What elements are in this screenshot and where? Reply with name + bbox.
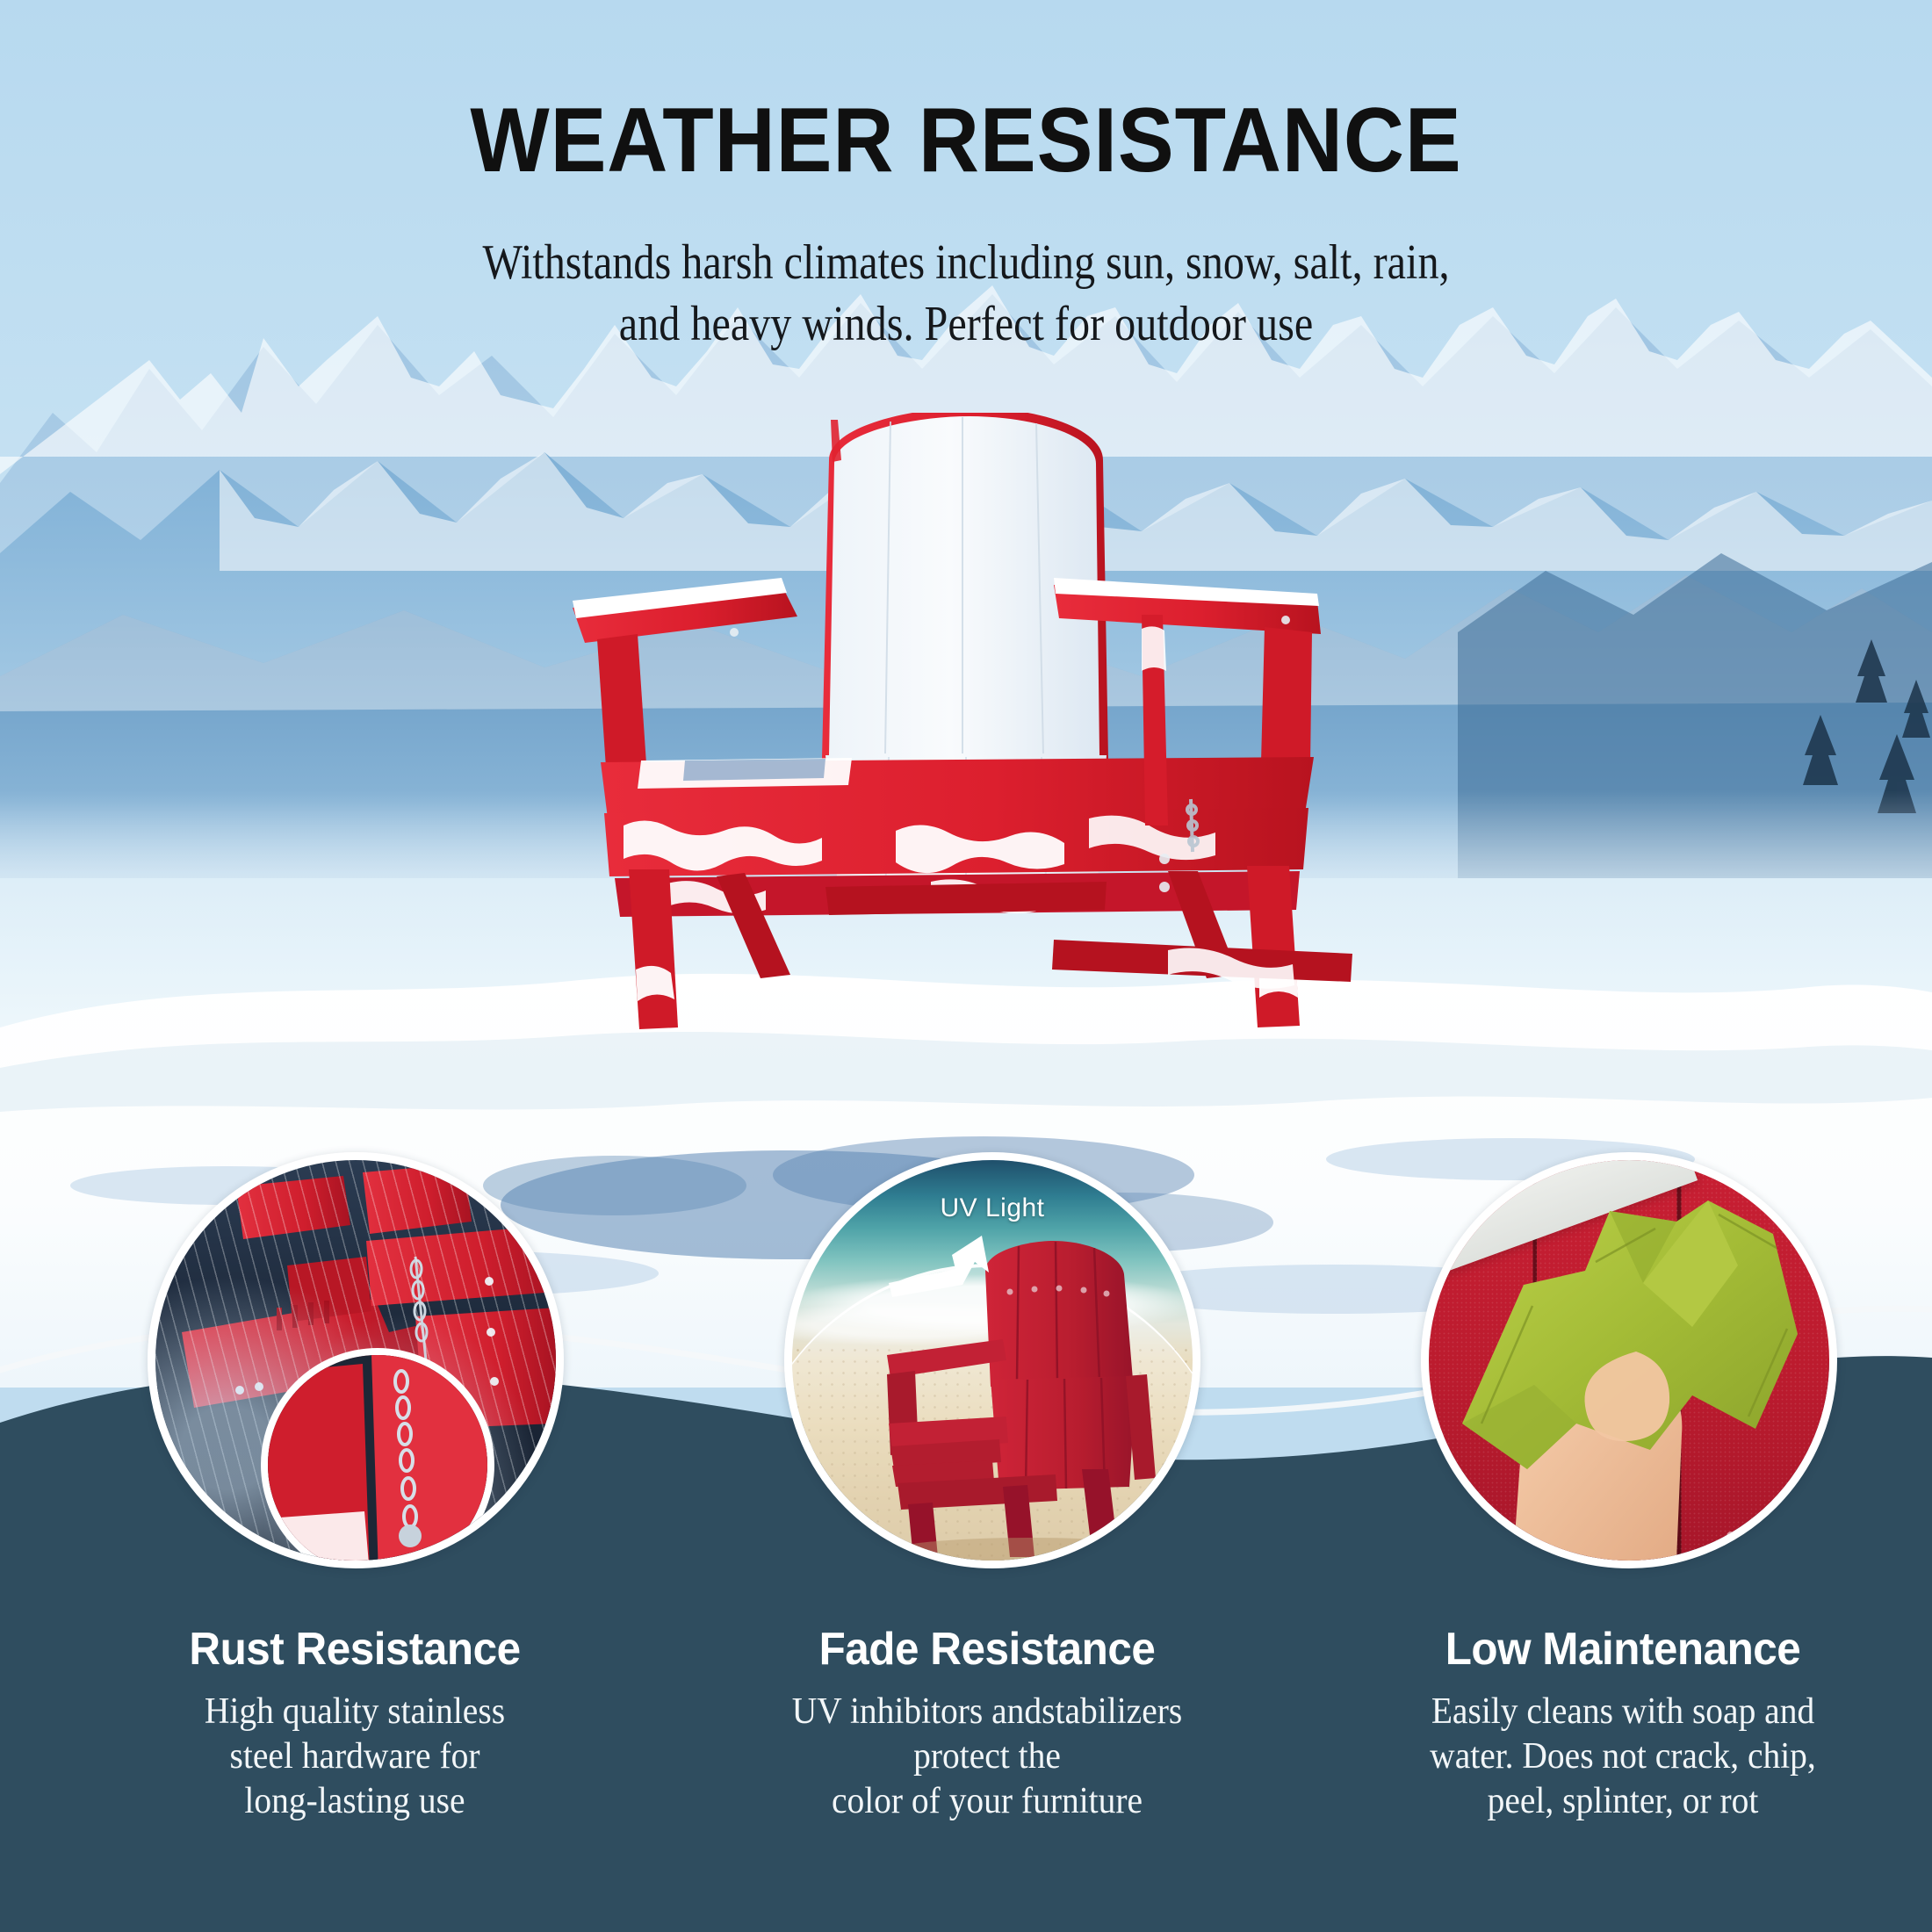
feature-body-line-1: Easily cleans with soap and bbox=[1431, 1691, 1814, 1732]
feature-text-rust-resistance: Rust Resistance High quality stainless s… bbox=[126, 1626, 583, 1825]
feature-body-line-3: color of your furniture bbox=[832, 1781, 1143, 1821]
feature-text-fade-resistance: Fade Resistance UV inhibitors andstabili… bbox=[759, 1626, 1215, 1825]
rust-hardware-detail-inset bbox=[261, 1348, 494, 1568]
infographic-poster: WEATHER RESISTANCE Withstands harsh clim… bbox=[0, 0, 1932, 1932]
feature-body-fade-resistance: UV inhibitors andstabilizers protect the… bbox=[773, 1690, 1202, 1825]
feature-heading-rust-resistance: Rust Resistance bbox=[138, 1626, 572, 1672]
feature-body-line-3: long-lasting use bbox=[244, 1781, 465, 1821]
subtitle-line-2: and heavy winds. Perfect for outdoor use bbox=[135, 293, 1797, 355]
feature-body-low-maintenance: Easily cleans with soap and water. Does … bbox=[1409, 1690, 1838, 1825]
feature-text-low-maintenance: Low Maintenance Easily cleans with soap … bbox=[1395, 1626, 1851, 1825]
feature-heading-low-maintenance: Low Maintenance bbox=[1406, 1626, 1840, 1672]
feature-heading-fade-resistance: Fade Resistance bbox=[770, 1626, 1204, 1672]
feature-image-low-maintenance bbox=[1421, 1152, 1837, 1568]
hero-chair-image bbox=[562, 413, 1370, 1124]
feature-body-line-1: UV inhibitors andstabilizers bbox=[792, 1691, 1182, 1732]
page-title: WEATHER RESISTANCE bbox=[77, 95, 1855, 186]
feature-body-rust-resistance: High quality stainless steel hardware fo… bbox=[141, 1690, 570, 1825]
feature-body-line-1: High quality stainless bbox=[205, 1691, 505, 1732]
page-subtitle: Withstands harsh climates including sun,… bbox=[135, 232, 1797, 355]
feature-body-line-3: peel, splinter, or rot bbox=[1488, 1781, 1759, 1821]
uv-light-arrow-icon bbox=[887, 1234, 1001, 1304]
feature-body-line-2: steel hardware for bbox=[230, 1736, 480, 1777]
subtitle-line-1: Withstands harsh climates including sun,… bbox=[135, 232, 1797, 293]
feature-body-line-2: water. Does not crack, chip, bbox=[1430, 1736, 1816, 1777]
uv-light-callout-label: UV Light bbox=[792, 1193, 1193, 1223]
hand-with-cloth-illustration bbox=[1429, 1160, 1829, 1561]
feature-image-fade-resistance: UV Light bbox=[784, 1152, 1200, 1568]
feature-body-line-2: protect the bbox=[913, 1736, 1061, 1777]
feature-image-rust-resistance bbox=[148, 1152, 564, 1568]
